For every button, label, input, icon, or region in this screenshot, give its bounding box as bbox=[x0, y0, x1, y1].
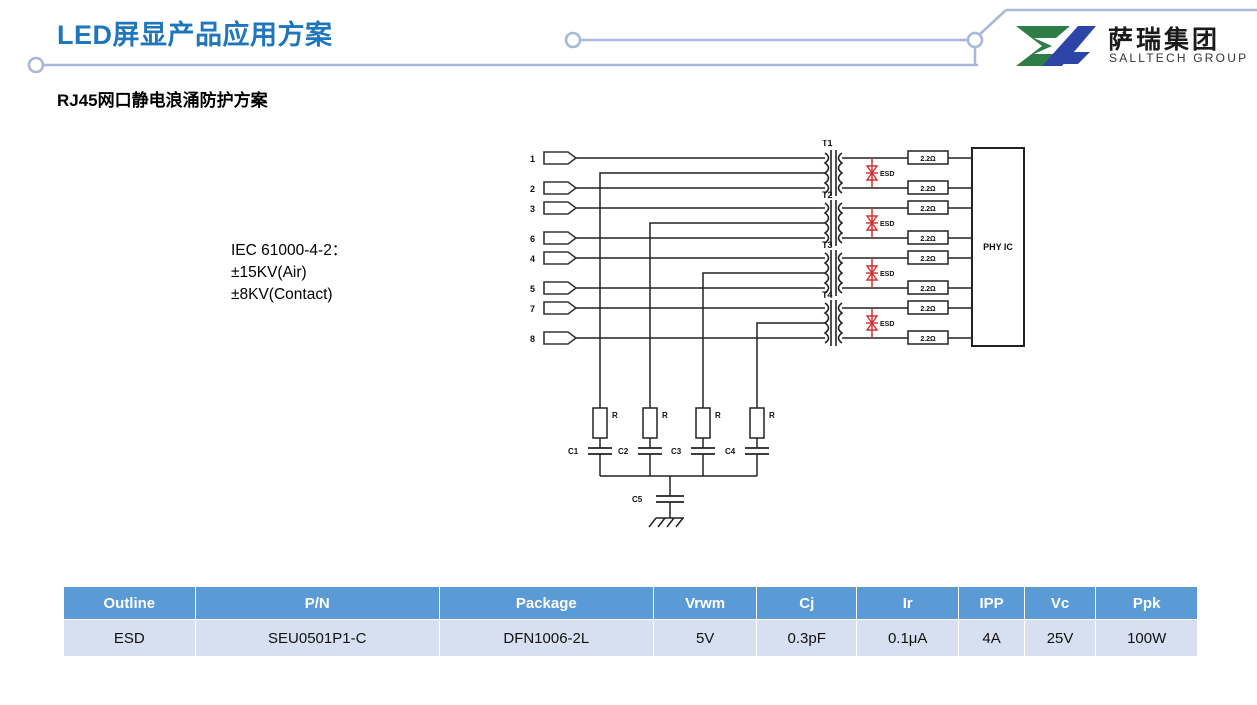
svg-text:2.2Ω: 2.2Ω bbox=[920, 286, 936, 293]
table-header-package: Package bbox=[439, 587, 653, 620]
svg-text:2.2Ω: 2.2Ω bbox=[920, 206, 936, 213]
cell-vc: 25V bbox=[1024, 620, 1096, 657]
pin-3: 3 bbox=[530, 202, 576, 214]
svg-text:PHY IC: PHY IC bbox=[983, 242, 1013, 252]
table-header-pn: P/N bbox=[195, 587, 439, 620]
series-resistors: 2.2Ω 2.2Ω 2.2Ω 2.2Ω 2.2Ω 2.2Ω bbox=[908, 151, 972, 344]
cell-outline: ESD bbox=[64, 620, 196, 657]
product-spec-table: Outline P/N Package Vrwm Cj Ir IPP Vc Pp… bbox=[63, 586, 1198, 657]
table-header-ir: Ir bbox=[857, 587, 959, 620]
pin-5: 5 bbox=[530, 282, 576, 294]
svg-text:7: 7 bbox=[530, 304, 535, 314]
esd-spec-text: IEC 61000-4-2： ±15KV(Air) ±8KV(Contact) bbox=[231, 240, 347, 306]
svg-text:R: R bbox=[612, 411, 618, 420]
cell-pn: SEU0501P1-C bbox=[195, 620, 439, 657]
svg-text:4: 4 bbox=[530, 254, 535, 264]
svg-text:ESD: ESD bbox=[880, 321, 894, 328]
table-header-vc: Vc bbox=[1024, 587, 1096, 620]
cell-package: DFN1006-2L bbox=[439, 620, 653, 657]
svg-text:6: 6 bbox=[530, 234, 535, 244]
svg-text:1: 1 bbox=[530, 154, 535, 164]
svg-text:R: R bbox=[769, 411, 775, 420]
svg-text:5: 5 bbox=[530, 284, 535, 294]
svg-text:C3: C3 bbox=[671, 447, 682, 456]
table-header-cj: Cj bbox=[757, 587, 857, 620]
svg-text:2.2Ω: 2.2Ω bbox=[920, 236, 936, 243]
pin-1: 1 bbox=[530, 152, 576, 164]
svg-text:C2: C2 bbox=[618, 447, 629, 456]
table-row: ESD SEU0501P1-C DFN1006-2L 5V 0.3pF 0.1μ… bbox=[64, 620, 1198, 657]
pin-7: 7 bbox=[530, 302, 576, 314]
svg-text:ESD: ESD bbox=[880, 271, 894, 278]
svg-text:T3: T3 bbox=[822, 240, 833, 250]
svg-text:2: 2 bbox=[530, 184, 535, 194]
company-logo: 萨瑞集团 SALLTECH GROUP bbox=[1012, 18, 1252, 74]
phy-ic-block: PHY IC bbox=[972, 148, 1024, 346]
svg-text:C5: C5 bbox=[632, 495, 643, 504]
svg-text:3: 3 bbox=[530, 204, 535, 214]
logo-name-en: SALLTECH GROUP bbox=[1109, 51, 1248, 65]
cell-ppk: 100W bbox=[1096, 620, 1198, 657]
table-header-ipp: IPP bbox=[959, 587, 1024, 620]
svg-text:T4: T4 bbox=[822, 290, 833, 300]
svg-text:ESD: ESD bbox=[880, 171, 894, 178]
rj45-pin-connectors: 1 2 3 6 4 5 7 8 bbox=[530, 152, 576, 344]
esd-protection-stage: ESD ESD ESD ESD bbox=[842, 158, 908, 338]
cell-vrwm: 5V bbox=[653, 620, 757, 657]
pin-6: 6 bbox=[530, 232, 576, 244]
table-header-ppk: Ppk bbox=[1096, 587, 1198, 620]
svg-text:2.2Ω: 2.2Ω bbox=[920, 186, 936, 193]
rj45-protection-schematic: 1 2 3 6 4 5 7 8 T1 T2 T3 T4 bbox=[520, 140, 1040, 535]
pin-8: 8 bbox=[530, 332, 576, 344]
table-header-vrwm: Vrwm bbox=[653, 587, 757, 620]
cell-ir: 0.1μA bbox=[857, 620, 959, 657]
page-title: LED屏显产品应用方案 bbox=[57, 13, 333, 52]
pin-2: 2 bbox=[530, 182, 576, 194]
svg-text:R: R bbox=[662, 411, 668, 420]
table-header-row: Outline P/N Package Vrwm Cj Ir IPP Vc Pp… bbox=[64, 587, 1198, 620]
svg-text:2.2Ω: 2.2Ω bbox=[920, 336, 936, 343]
svg-text:ESD: ESD bbox=[880, 221, 894, 228]
table-header-outline: Outline bbox=[64, 587, 196, 620]
cell-ipp: 4A bbox=[959, 620, 1024, 657]
salltech-mark-icon bbox=[1012, 22, 1098, 70]
section-subtitle: RJ45网口静电浪涌防护方案 bbox=[57, 86, 268, 111]
pin-wires bbox=[576, 158, 825, 338]
svg-text:8: 8 bbox=[530, 334, 535, 344]
svg-text:T2: T2 bbox=[822, 190, 833, 200]
svg-text:C1: C1 bbox=[568, 447, 579, 456]
cell-cj: 0.3pF bbox=[757, 620, 857, 657]
svg-text:R: R bbox=[715, 411, 721, 420]
rc-termination-network: R R R R C1 C2 C3 C4 bbox=[568, 408, 775, 527]
pin-4: 4 bbox=[530, 252, 576, 264]
svg-text:T1: T1 bbox=[822, 140, 833, 148]
svg-text:2.2Ω: 2.2Ω bbox=[920, 156, 936, 163]
svg-text:C4: C4 bbox=[725, 447, 736, 456]
svg-text:2.2Ω: 2.2Ω bbox=[920, 256, 936, 263]
svg-text:2.2Ω: 2.2Ω bbox=[920, 306, 936, 313]
